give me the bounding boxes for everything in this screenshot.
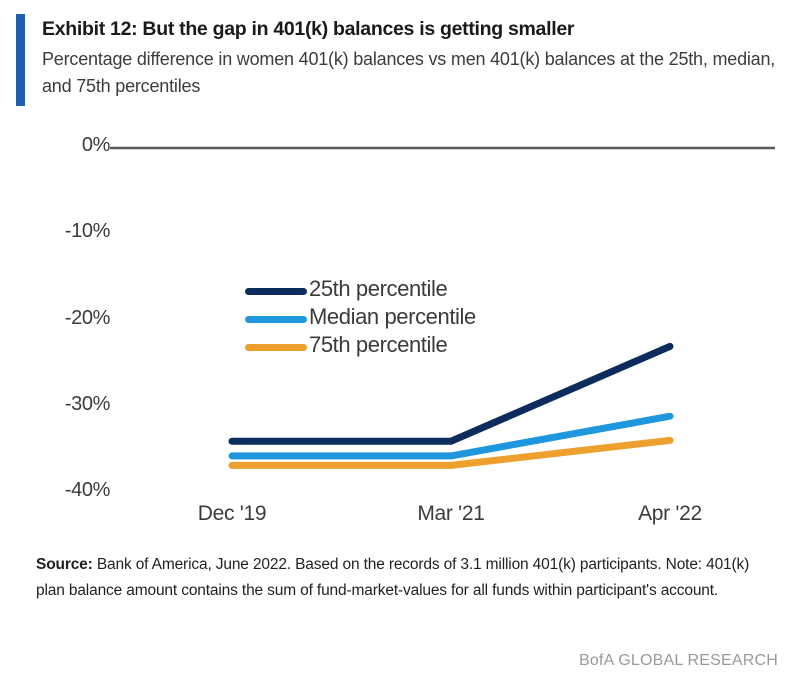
source-label: Source: — [36, 556, 93, 573]
legend-swatch-icon — [245, 344, 307, 351]
legend-label: 25th percentile — [309, 276, 447, 302]
x-tick-label: Apr '22 — [590, 502, 750, 526]
y-tick-label: -20% — [15, 307, 110, 330]
x-tick-label: Dec '19 — [152, 502, 312, 526]
page-subtitle: Percentage difference in women 401(k) ba… — [42, 46, 787, 100]
legend-label: Median percentile — [309, 304, 476, 330]
page-title: Exhibit 12: But the gap in 401(k) balanc… — [42, 16, 782, 42]
y-tick-label: 0% — [15, 134, 110, 157]
x-tick-label: Mar '21 — [371, 502, 531, 526]
series-lines — [232, 346, 670, 465]
source-note: Source: Bank of America, June 2022. Base… — [36, 552, 776, 604]
y-tick-label: -40% — [15, 479, 110, 502]
legend-swatch-icon — [245, 288, 307, 295]
chart-container: 0%-10%-20%-30%-40% Dec '19Mar '21Apr '22… — [0, 120, 800, 545]
accent-bar — [16, 14, 25, 106]
y-tick-label: -30% — [15, 393, 110, 416]
attribution-text: BofA GLOBAL RESEARCH — [579, 652, 778, 670]
exhibit-header: Exhibit 12: But the gap in 401(k) balanc… — [0, 0, 800, 120]
legend-label: 75th percentile — [309, 332, 447, 358]
source-text: Bank of America, June 2022. Based on the… — [36, 556, 749, 599]
y-tick-label: -10% — [15, 220, 110, 243]
legend-swatch-icon — [245, 316, 307, 323]
